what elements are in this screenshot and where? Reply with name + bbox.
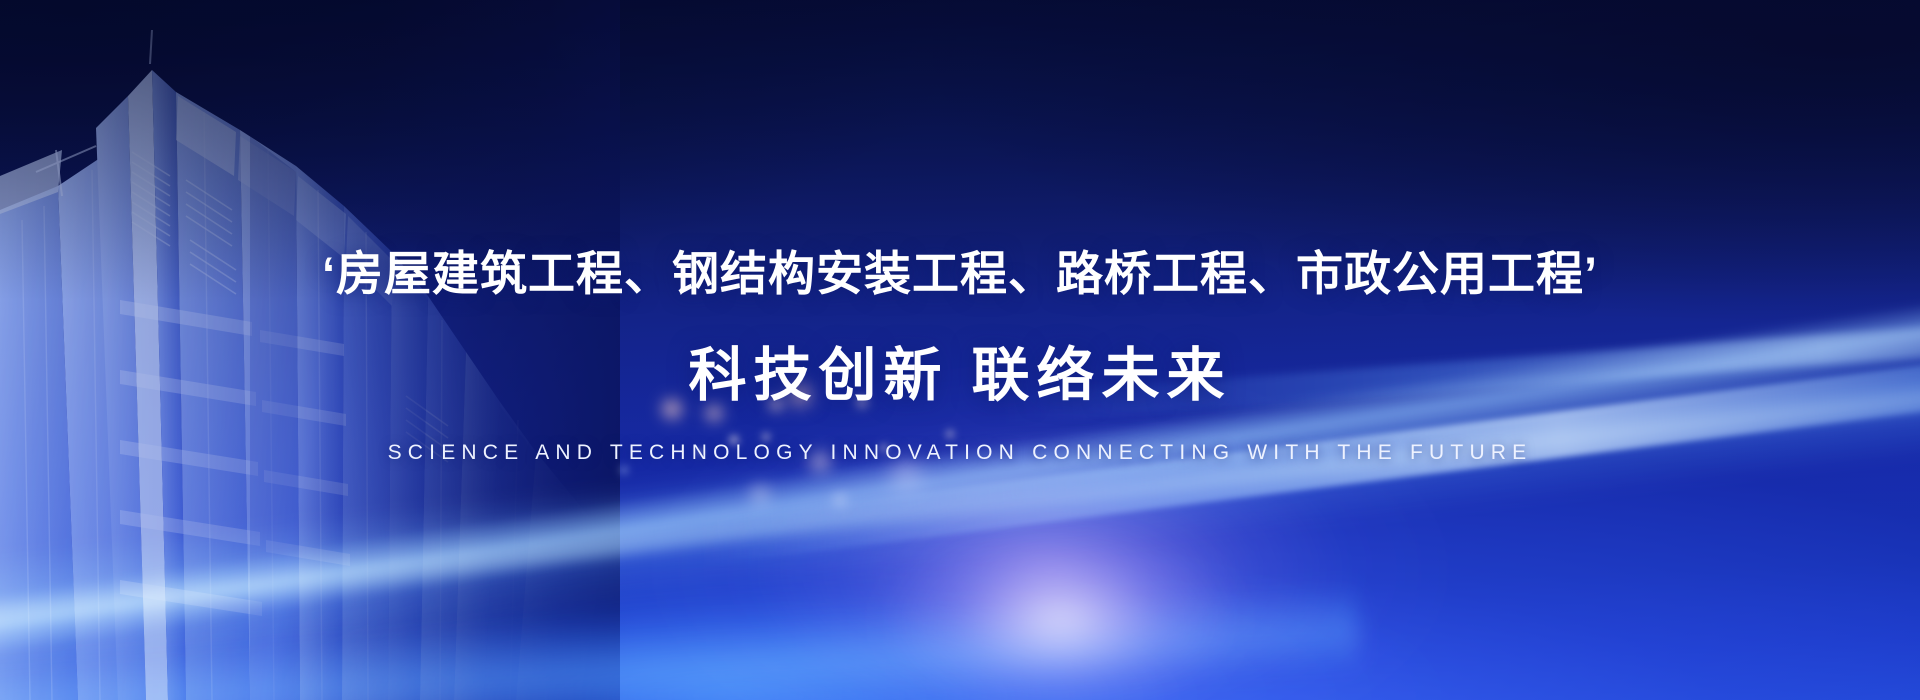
headline-secondary: 科技创新 联络未来 xyxy=(688,344,1231,408)
subtitle-english: SCIENCE AND TECHNOLOGY INNOVATION CONNEC… xyxy=(388,441,1533,465)
headline-primary: ‘房屋建筑工程、钢结构安装工程、路桥工程、市政公用工程’ xyxy=(322,248,1598,300)
banner-text-block: ‘房屋建筑工程、钢结构安装工程、路桥工程、市政公用工程’ 科技创新 联络未来 S… xyxy=(0,0,1920,700)
hero-banner: ‘房屋建筑工程、钢结构安装工程、路桥工程、市政公用工程’ 科技创新 联络未来 S… xyxy=(0,0,1920,700)
